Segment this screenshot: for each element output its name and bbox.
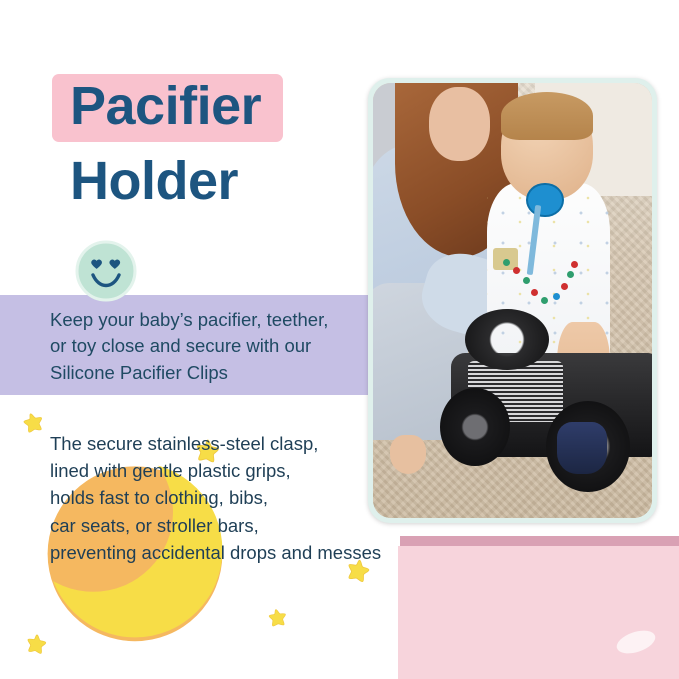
photo-bead [523,277,530,284]
page-title: Pacifier Holder [52,74,283,208]
photo-bead [503,259,510,266]
title-line-2: Holder [70,154,283,208]
product-photo-card [368,78,657,523]
smiley-heart-eyes-icon [75,240,137,302]
infographic-canvas: Pacifier Holder Keep your baby’s pacifie… [0,0,679,679]
photo-bead [561,283,568,290]
photo-bead [567,271,574,278]
title-line-1: Pacifier [52,74,283,142]
callout-line-2: or toy close and secure with our [50,333,380,359]
callout-line-3: Silicone Pacifier Clips [50,360,380,386]
photo-baby-hair [501,92,593,140]
photo-car-wheel-left [440,388,510,466]
photo-baby-shoe [557,422,607,474]
product-photo [373,83,652,518]
photo-steering-wheel [465,309,549,370]
photo-bead [541,297,548,304]
callout-line-1: Keep your baby’s pacifier, teether, [50,307,380,333]
photo-bead-chain [501,257,574,314]
photo-bead [513,267,520,274]
pink-cloud-front [398,546,679,679]
star-icon [266,607,289,634]
photo-adult-face [429,87,490,161]
star-icon [22,631,48,661]
photo-bead [553,293,560,300]
photo-bead [531,289,538,296]
callout-text: Keep your baby’s pacifier, teether, or t… [50,307,380,386]
